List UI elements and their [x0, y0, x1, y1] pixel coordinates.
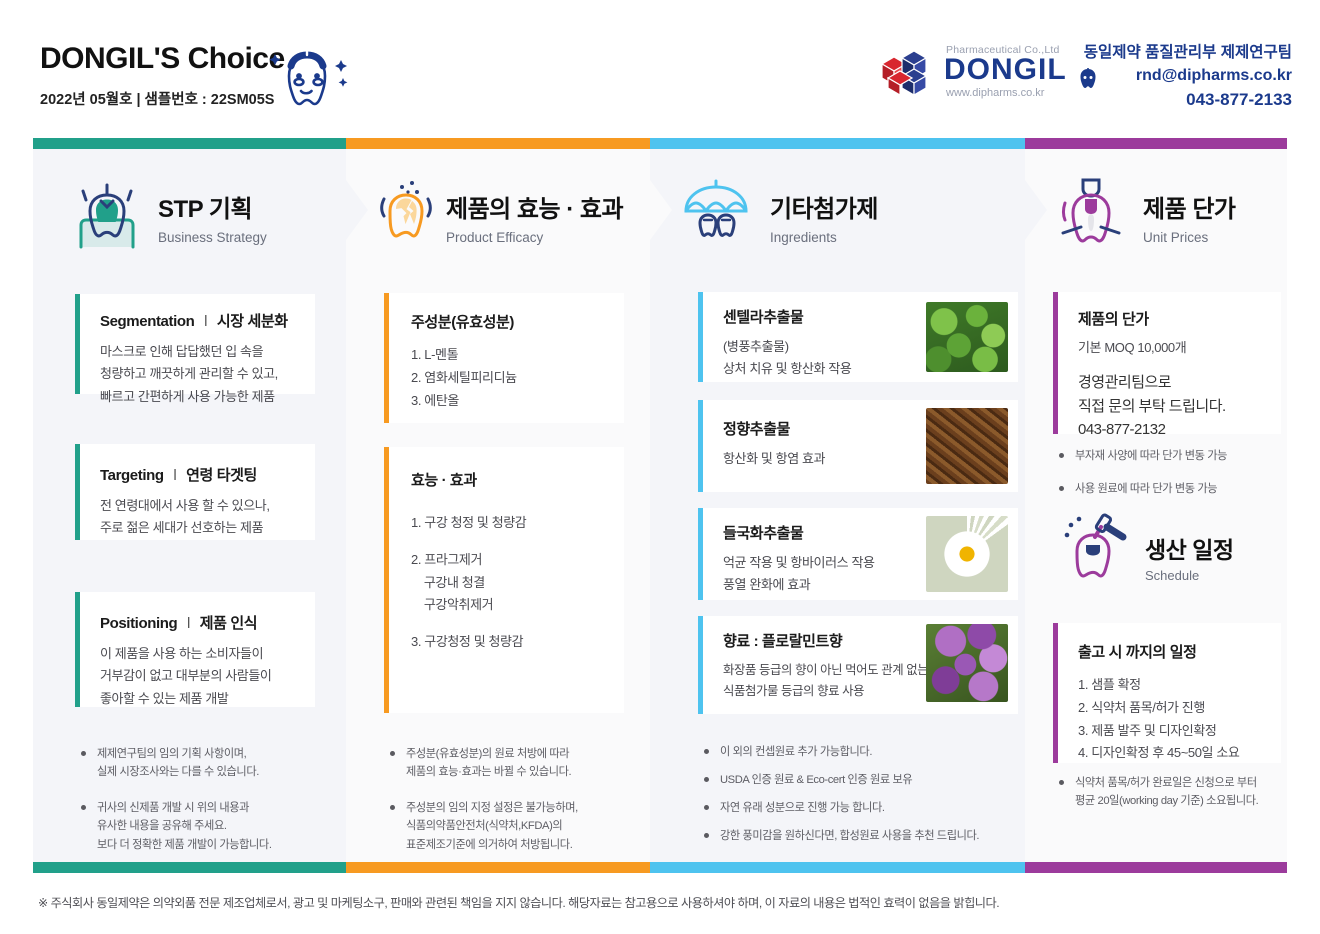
card-heading-kr: 시장 세분화 — [217, 313, 288, 330]
notes-schedule: 식약처 품목/허가 완료일은 신청으로 부터 평균 20일(working da… — [1055, 774, 1290, 823]
note-item: 귀사의 신제품 개발 시 위의 내용과 유사한 내용을 공유해 주세요. 보다 … — [77, 799, 332, 853]
column-bottom-bar — [650, 862, 1025, 873]
tooth-crown-icon — [1055, 175, 1127, 253]
note-line: USDA 인증 원료 & Eco-cert 인증 원료 보유 — [720, 771, 1020, 789]
column-title-en: Business Strategy — [158, 230, 267, 245]
card-line: 3. 구강청정 및 청량감 — [411, 631, 624, 654]
note-line: 귀사의 신제품 개발 시 위의 내용과 — [97, 799, 332, 817]
column-title-kr: STP 기획 — [158, 189, 267, 224]
logo-url-text: www.dipharms.co.kr — [946, 87, 1044, 99]
note-line: 식품의약품안전처(식약처,KFDA)의 — [406, 817, 636, 835]
card-line: 1. 구강 청정 및 청량감 — [411, 512, 624, 535]
card-heading-en: Targeting — [100, 467, 164, 484]
note-line: 제품의 효능·효과는 바뀔 수 있습니다. — [406, 763, 636, 781]
card-line: 3. 에탄올 — [411, 390, 624, 413]
card-line: 1. L-멘톨 — [411, 344, 624, 367]
card-line — [411, 535, 624, 549]
notes-ingredients: 이 외의 컨셉원료 추가 가능합니다. USDA 인증 원료 & Eco-cer… — [700, 743, 1020, 859]
notes-stp: 제제연구팀의 임의 기획 사항이며, 실제 시장조사와는 다를 수 있습니다. … — [77, 745, 332, 867]
note-item: 주성분(유효성분)의 원료 처방에 따라 제품의 효능·효과는 바뀔 수 있습니… — [386, 745, 636, 781]
card-line: 거부감이 없고 대부분의 사람들이 — [100, 665, 315, 687]
card-unit-price: 제품의 단가 기본 MOQ 10,000개 경영관리팀으로 직접 문의 부탁 드… — [1053, 292, 1281, 434]
lilac-flowers-photo — [926, 624, 1008, 702]
note-item: 주성분의 임의 지정 설정은 불가능하며, 식품의약품안전처(식약처,KFDA)… — [386, 799, 636, 853]
centella-leaves-photo — [926, 302, 1008, 372]
card-heading-en: Segmentation — [100, 313, 194, 330]
tooth-face-icon — [1076, 68, 1100, 90]
card-line: 2. 염화세틸피리디늄 — [411, 367, 624, 390]
column-header-prices: 제품 단가 Unit Prices — [1025, 175, 1287, 261]
logo-wordmark: DONGIL — [944, 53, 1067, 87]
tooth-drill-icon — [1055, 507, 1135, 585]
card-clove: 정향추출물 항산화 및 항염 효과 — [698, 400, 1018, 492]
note-line: 사용 원료에 따라 단가 변동 가능 — [1075, 480, 1280, 498]
note-line: 강한 풍미감을 원하신다면, 합성원료 사용을 추천 드립니다. — [720, 827, 1020, 845]
clove-buds-photo — [926, 408, 1008, 484]
card-line: 기본 MOQ 10,000개 — [1078, 337, 1281, 359]
card-line: 전 연령대에서 사용 할 수 있으나, — [100, 495, 315, 517]
note-item: 사용 원료에 따라 단가 변동 가능 — [1055, 480, 1280, 498]
note-line: 식약처 품목/허가 완료일은 신청으로 부터 — [1075, 774, 1290, 792]
footer-disclaimer: ※ 주식회사 동일제약은 의약외품 전문 제조업체로서, 광고 및 마케팅소구,… — [38, 893, 1288, 911]
column-top-bar — [33, 138, 346, 149]
four-column-board: STP 기획 Business Strategy Segmentation l … — [33, 138, 1287, 873]
card-heading: 제품의 단가 — [1078, 308, 1281, 329]
note-line: 실제 시장조사와는 다를 수 있습니다. — [97, 763, 332, 781]
note-item: 부자재 사양에 따라 단가 변동 가능 — [1055, 447, 1280, 465]
note-line: 유사한 내용을 공유해 주세요. — [97, 817, 332, 835]
card-efficacy-effects: 효능 · 효과 1. 구강 청정 및 청량감 2. 프라그제거 구강내 청결 구… — [384, 447, 624, 713]
card-active-ingredients: 주성분(유효성분) 1. L-멘톨 2. 염화세틸피리디늄 3. 에탄올 — [384, 293, 624, 423]
card-line: 3. 제품 발주 및 디자인확정 — [1078, 720, 1281, 743]
note-line: 제제연구팀의 임의 기획 사항이며, — [97, 745, 332, 763]
column-header-stp: STP 기획 Business Strategy — [33, 175, 346, 261]
card-heading: Positioning l 제품 인식 — [100, 612, 315, 633]
card-line: 2. 식약처 품목/허가 진행 — [1078, 697, 1281, 720]
card-heading-sep: l — [181, 615, 196, 632]
note-line: 주성분의 임의 지정 설정은 불가능하며, — [406, 799, 636, 817]
tooth-crack-icon — [370, 175, 442, 253]
notes-prices: 부자재 사양에 따라 단가 변동 가능 사용 원료에 따라 단가 변동 가능 — [1055, 447, 1280, 511]
card-heading-sep: l — [198, 313, 213, 330]
umbrella-teeth-icon — [680, 175, 752, 253]
column-title-efficacy: 제품의 효능 · 효과 Product Efficacy — [446, 189, 623, 245]
column-title-prices: 제품 단가 Unit Prices — [1143, 189, 1236, 245]
column-title-en: Product Efficacy — [446, 230, 623, 245]
note-line: 평균 20일(working day 기준) 소요됩니다. — [1075, 792, 1290, 810]
card-heading-kr: 연령 타겟팅 — [186, 467, 257, 484]
card-schedule: 출고 시 까지의 일정 1. 샘플 확정 2. 식약처 품목/허가 진행 3. … — [1053, 623, 1281, 763]
column-top-bar — [1025, 138, 1287, 149]
note-item: 제제연구팀의 임의 기획 사항이며, 실제 시장조사와는 다를 수 있습니다. — [77, 745, 332, 781]
column-bottom-bar — [1025, 862, 1287, 873]
note-line: 자연 유래 성분으로 진행 가능 합니다. — [720, 799, 1020, 817]
note-item: 자연 유래 성분으로 진행 가능 합니다. — [700, 799, 1020, 817]
card-heading: Targeting l 연령 타겟팅 — [100, 464, 315, 485]
card-heading-kr: 제품 인식 — [200, 615, 257, 632]
card-heading-sep: l — [167, 467, 182, 484]
note-line: 이 외의 컨셉원료 추가 가능합니다. — [720, 743, 1020, 761]
card-heading: 효능 · 효과 — [411, 469, 624, 490]
card-line-emphasis: 경영관리팀으로 — [1078, 371, 1281, 394]
card-centella: 센텔라추출물 (병풍추출물) 상처 치유 및 항산화 작용 — [698, 292, 1018, 382]
notes-efficacy: 주성분(유효성분)의 원료 처방에 따라 제품의 효능·효과는 바뀔 수 있습니… — [386, 745, 636, 867]
contact-team-label: 동일제약 품질관리부 제제연구팀 — [1062, 42, 1292, 64]
card-line: 빠르고 간편하게 사용 가능한 제품 — [100, 386, 315, 408]
card-segmentation: Segmentation l 시장 세분화 마스크로 인해 답답했던 입 속을 … — [75, 294, 315, 394]
card-heading: Segmentation l 시장 세분화 — [100, 310, 315, 331]
column-ingredients: 기타첨가제 Ingredients 센텔라추출물 (병풍추출물) 상처 치유 및… — [650, 138, 1025, 873]
card-heading: 출고 시 까지의 일정 — [1078, 641, 1281, 662]
card-line: 1. 샘플 확정 — [1078, 674, 1281, 697]
note-line: 보다 더 정확한 제품 개발이 가능합니다. — [97, 836, 332, 854]
note-item: 강한 풍미감을 원하신다면, 합성원료 사용을 추천 드립니다. — [700, 827, 1020, 845]
note-item: USDA 인증 원료 & Eco-cert 인증 원료 보유 — [700, 771, 1020, 789]
card-line: 이 제품을 사용 하는 소비자들이 — [100, 643, 315, 665]
tooth-shine-icon — [71, 175, 143, 253]
card-line: 2. 프라그제거 — [411, 549, 624, 572]
schedule-title: 생산 일정 Schedule — [1145, 531, 1234, 583]
column-stp: STP 기획 Business Strategy Segmentation l … — [33, 138, 346, 873]
column-top-bar — [346, 138, 650, 149]
column-efficacy: 제품의 효능 · 효과 Product Efficacy 주성분(유효성분) 1… — [346, 138, 650, 873]
page-header: DONGIL'S Choice 2022년 05월호 | 샘플번호 : 22SM… — [0, 0, 1320, 130]
column-title-en: Unit Prices — [1143, 230, 1236, 245]
column-title-stp: STP 기획 Business Strategy — [158, 189, 267, 245]
schedule-title-kr: 생산 일정 — [1145, 531, 1234, 565]
card-line: 주로 젊은 세대가 선호하는 제품 — [100, 517, 315, 539]
note-line: 부자재 사양에 따라 단가 변동 가능 — [1075, 447, 1280, 465]
chrysanthemum-flower-photo — [926, 516, 1008, 592]
note-item: 이 외의 컨셉원료 추가 가능합니다. — [700, 743, 1020, 761]
note-item: 식약처 품목/허가 완료일은 신청으로 부터 평균 20일(working da… — [1055, 774, 1290, 810]
card-heading-en: Positioning — [100, 615, 177, 632]
card-fragrance: 향료 : 플로랄민트향 화장품 등급의 향이 아닌 먹어도 관계 없는 식품첨가… — [698, 616, 1018, 714]
card-line: 구강악취제거 — [411, 594, 624, 617]
card-positioning: Positioning l 제품 인식 이 제품을 사용 하는 소비자들이 거부… — [75, 592, 315, 707]
column-title-kr: 기타첨가제 — [770, 189, 878, 224]
card-heading: 주성분(유효성분) — [411, 311, 624, 332]
page-title: DONGIL'S Choice — [40, 42, 285, 76]
note-line: 주성분(유효성분)의 원료 처방에 따라 — [406, 745, 636, 763]
dongil-cube-logo-icon — [880, 48, 942, 96]
card-line: 4. 디자인확정 후 45~50일 소요 — [1078, 742, 1281, 765]
card-chrysanthemum: 들국화추출물 억균 작용 및 항바이러스 작용 풍열 완화에 효과 — [698, 508, 1018, 600]
card-targeting: Targeting l 연령 타겟팅 전 연령대에서 사용 할 수 있으나, 주… — [75, 444, 315, 540]
column-prices: 제품 단가 Unit Prices 제품의 단가 기본 MOQ 10,000개 … — [1025, 138, 1287, 873]
issue-subtitle: 2022년 05월호 | 샘플번호 : 22SM05S — [40, 88, 274, 109]
column-title-kr: 제품의 효능 · 효과 — [446, 189, 623, 224]
column-title-en: Ingredients — [770, 230, 878, 245]
card-line — [411, 617, 624, 631]
tooth-mascot-icon — [263, 38, 353, 122]
company-logo: Pharmaceutical Co.,Ltd DONGIL www.diphar… — [880, 40, 1060, 102]
column-top-bar — [650, 138, 1025, 149]
note-line: 표준제조기준에 의거하여 처방됩니다. — [406, 836, 636, 854]
contact-phone: 043-877-2133 — [1062, 88, 1292, 113]
column-title-kr: 제품 단가 — [1143, 189, 1236, 224]
contact-block: 동일제약 품질관리부 제제연구팀 rnd@dipharms.co.kr 043-… — [1062, 42, 1292, 113]
card-line: 좋아할 수 있는 제품 개발 — [100, 688, 315, 710]
schedule-title-en: Schedule — [1145, 568, 1234, 583]
card-line: 청량하고 깨끗하게 관리할 수 있고, — [100, 363, 315, 385]
card-line: 구강내 청결 — [411, 572, 624, 595]
column-title-ingredients: 기타첨가제 Ingredients — [770, 189, 878, 245]
column-header-efficacy: 제품의 효능 · 효과 Product Efficacy — [346, 175, 650, 261]
card-phone-number: 043-877-2132 — [1078, 418, 1281, 441]
card-line: 마스크로 인해 답답했던 입 속을 — [100, 341, 315, 363]
card-line-emphasis: 직접 문의 부탁 드립니다. — [1078, 395, 1281, 418]
column-header-ingredients: 기타첨가제 Ingredients — [650, 175, 1025, 261]
